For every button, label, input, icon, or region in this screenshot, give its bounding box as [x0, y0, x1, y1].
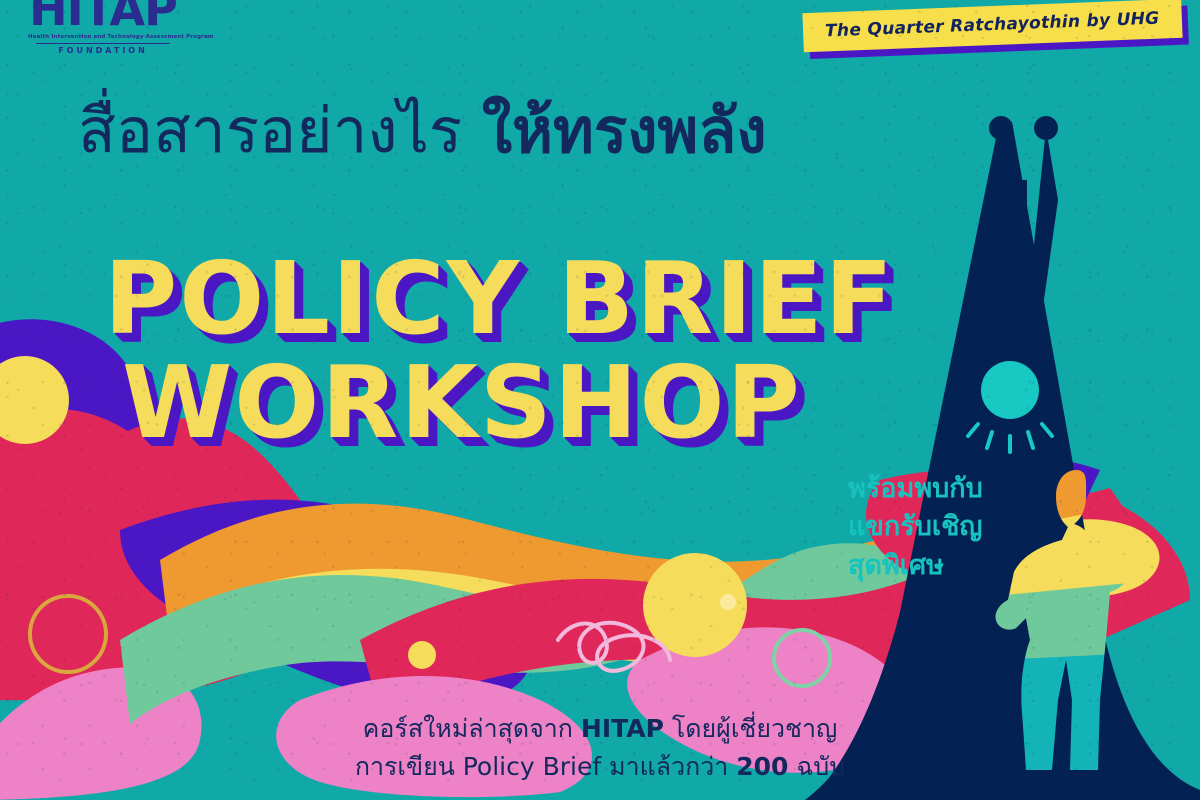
- guest-line-1: พร้อมพบกับ: [848, 470, 983, 508]
- caption-1a: คอร์สใหม่ล่าสุดจาก: [363, 714, 581, 743]
- caption-line-2: การเขียน Policy Brief มาแล้วกว่า 200 ฉบั…: [0, 748, 1200, 786]
- guest-teaser: พร้อมพบกับ แขกรับเชิญ สุดพิเศษ: [848, 470, 983, 585]
- title-line-1: Policy Brief: [104, 250, 895, 348]
- logo-foundation-label: FOUNDATION: [28, 46, 178, 55]
- caption-2b: 200: [736, 752, 788, 781]
- event-title: Policy Brief Workshop: [104, 250, 895, 452]
- logo-divider: [36, 43, 170, 44]
- headline-part-2: ให้ทรงพลัง: [482, 94, 767, 167]
- hitap-logo: HITAP Health Intervention and Technology…: [28, 0, 178, 55]
- guest-line-2: แขกรับเชิญ: [848, 508, 983, 546]
- guest-line-3: สุดพิเศษ: [848, 547, 983, 585]
- caption-2c: ฉบับ: [788, 752, 845, 781]
- caption-2a: การเขียน Policy Brief มาแล้วกว่า: [355, 752, 736, 781]
- poster-canvas: HITAP Health Intervention and Technology…: [0, 0, 1200, 800]
- title-line-2: Workshop: [122, 354, 895, 452]
- logo-tagline: Health Intervention and Technology Asses…: [28, 35, 178, 41]
- caption-line-1: คอร์สใหม่ล่าสุดจาก HITAP โดยผู้เชี่ยวชาญ: [0, 710, 1200, 748]
- headline-part-1: สื่อสารอย่างไร: [78, 94, 482, 167]
- bottom-caption: คอร์สใหม่ล่าสุดจาก HITAP โดยผู้เชี่ยวชาญ…: [0, 710, 1200, 786]
- logo-wordmark: HITAP: [28, 0, 178, 32]
- caption-1c: โดยผู้เชี่ยวชาญ: [664, 714, 837, 743]
- thai-headline: สื่อสารอย่างไร ให้ทรงพลัง: [78, 96, 767, 165]
- caption-1b: HITAP: [581, 714, 664, 743]
